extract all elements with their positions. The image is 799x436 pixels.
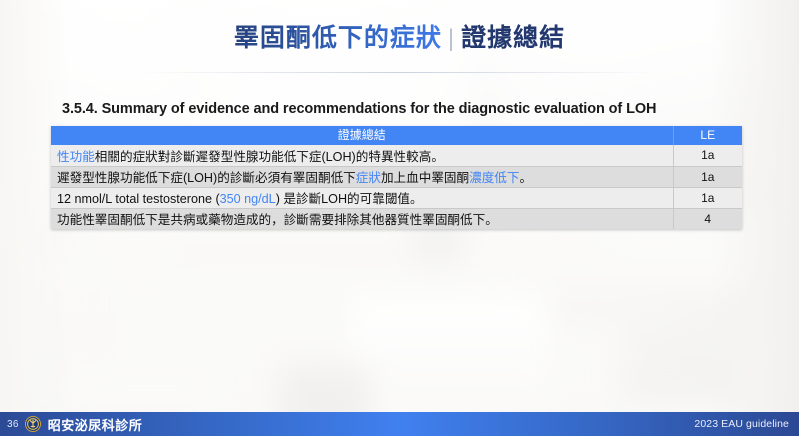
statement-text: 12 nmol/L total testosterone ( [57,192,220,206]
cell-statement: 功能性睪固酮低下是共病或藥物造成的，診斷需要排除其他器質性睪固酮低下。 [51,208,673,229]
cell-statement: 12 nmol/L total testosterone (350 ng/dL)… [51,187,673,208]
table-header: 證據總結 LE [51,126,742,145]
table-row: 12 nmol/L total testosterone (350 ng/dL)… [51,187,742,208]
table-row: 功能性睪固酮低下是共病或藥物造成的，診斷需要排除其他器質性睪固酮低下。4 [51,208,742,229]
table-row: 性功能相關的症狀對診斷遲發型性腺功能低下症(LOH)的特異性較高。1a [51,145,742,166]
column-header-le: LE [673,126,742,145]
statement-text: ) 是診斷LOH的可靠閾值。 [276,192,423,206]
table-header-row: 證據總結 LE [51,126,742,145]
slide-footer: 36 昭安泌尿科診所 2023 EAU guideline [0,412,799,436]
page-title: 睪固酮低下的症狀|證據總結 [0,24,799,53]
slide-title-container: 睪固酮低下的症狀|證據總結 [0,24,799,53]
page-number: 36 [7,419,19,430]
cell-le: 1a [673,187,742,208]
footer-source: 2023 EAU guideline [694,418,789,430]
table-row: 遲發型性腺功能低下症(LOH)的診斷必須有睪固酮低下症狀加上血中睪固酮濃度低下。… [51,166,742,187]
table-body: 性功能相關的症狀對診斷遲發型性腺功能低下症(LOH)的特異性較高。1a遲發型性腺… [51,145,742,229]
statement-highlight: 症狀 [356,171,381,185]
statement-highlight: 350 ng/dL [220,192,276,206]
statement-text: 遲發型性腺功能低下症(LOH)的診斷必須有睪固酮低下 [57,171,356,185]
statement-text: 加上血中睪固酮 [381,171,469,185]
clinic-crest-icon [25,416,41,432]
evidence-table-container: 證據總結 LE 性功能相關的症狀對診斷遲發型性腺功能低下症(LOH)的特異性較高… [51,126,742,229]
statement-highlight: 濃度低下 [469,171,519,185]
cell-le: 1a [673,166,742,187]
statement-text: 相關的症狀對診斷遲發型性腺功能低下症(LOH)的特異性較高。 [95,150,444,164]
statement-text: 功能性睪固酮低下是共病或藥物造成的，診斷需要排除其他器質性睪固酮低下。 [57,213,498,227]
column-header-statement: 證據總結 [51,126,673,145]
cell-le: 4 [673,208,742,229]
cell-le: 1a [673,145,742,166]
cell-statement: 性功能相關的症狀對診斷遲發型性腺功能低下症(LOH)的特異性較高。 [51,145,673,166]
evidence-table: 證據總結 LE 性功能相關的症狀對診斷遲發型性腺功能低下症(LOH)的特異性較高… [51,126,742,229]
page-title-primary: 睪固酮低下的症狀 [234,24,442,52]
page-title-secondary: 證據總結 [461,24,565,52]
statement-highlight: 性功能 [57,150,95,164]
title-divider [140,72,660,73]
cell-statement: 遲發型性腺功能低下症(LOH)的診斷必須有睪固酮低下症狀加上血中睪固酮濃度低下。 [51,166,673,187]
statement-text: 。 [519,171,532,185]
clinic-name: 昭安泌尿科診所 [48,415,143,434]
page-title-separator: | [448,25,455,52]
section-subtitle: 3.5.4. Summary of evidence and recommend… [62,101,656,117]
